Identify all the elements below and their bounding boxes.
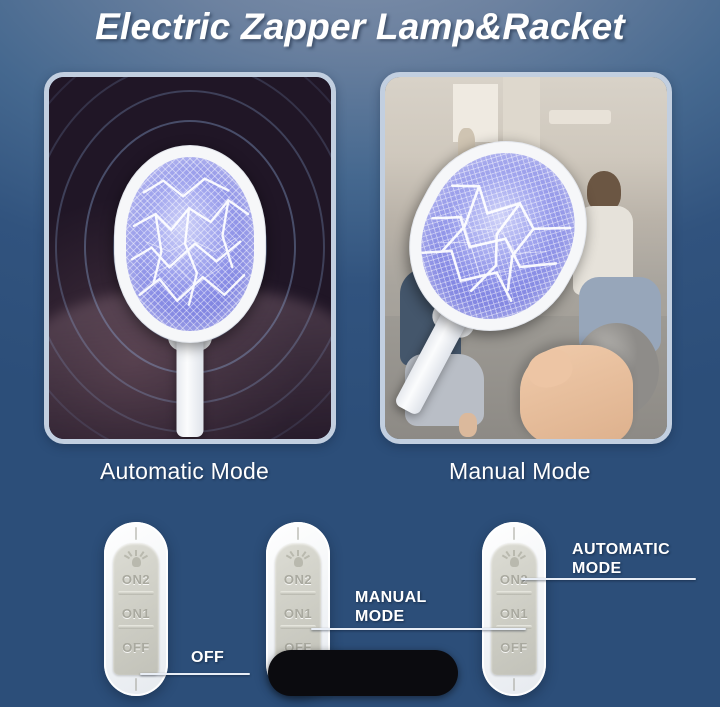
bulb-ray	[135, 550, 137, 556]
switch-automatic[interactable]: ON2 ON1 OFF	[482, 522, 546, 696]
zapper-racket-upright	[114, 145, 266, 343]
manual-mode-photo	[380, 72, 672, 444]
lamp-bulb-icon	[503, 550, 525, 567]
callout-leader-automatic	[521, 578, 696, 580]
switch-off[interactable]: ON2 ON1 OFF	[104, 522, 168, 696]
callout-manual: MANUAL MODE	[355, 588, 427, 626]
callout-off: OFF	[191, 648, 224, 667]
callout-leader-manual	[311, 628, 526, 630]
bulb-ray	[304, 555, 310, 559]
switch-seam	[297, 527, 299, 540]
switch-label-off: OFF	[491, 640, 537, 655]
bulb-ray	[513, 550, 515, 556]
callout-automatic: AUTOMATIC MODE	[572, 540, 670, 578]
manual-photo-inner	[385, 77, 667, 439]
bulb-glass	[510, 557, 519, 567]
caption-automatic-mode: Automatic Mode	[100, 458, 269, 485]
switch-seam	[513, 678, 515, 691]
bulb-glass	[132, 557, 141, 567]
switch-label-off: OFF	[113, 640, 159, 655]
switch-label-on2: ON2	[113, 572, 159, 587]
switch-ridge	[496, 591, 532, 595]
switch-ridge	[118, 625, 154, 629]
switch-seam	[513, 527, 515, 540]
bulb-glass	[294, 557, 303, 567]
bulb-ray	[520, 555, 526, 559]
automatic-photo-inner	[49, 77, 331, 439]
electric-arc-icon	[126, 157, 254, 330]
switch-ridge	[118, 591, 154, 595]
switch-label-on1: ON1	[275, 606, 321, 621]
caption-manual-mode: Manual Mode	[449, 458, 591, 485]
racket-handle	[177, 333, 204, 437]
switch-label-on1: ON1	[491, 606, 537, 621]
black-bar-overlay	[268, 650, 458, 696]
switch-ridge	[280, 591, 316, 595]
switch-label-on2: ON2	[275, 572, 321, 587]
page-title: Electric Zapper Lamp&Racket	[0, 6, 720, 48]
person-foot	[459, 413, 478, 436]
bulb-ray	[297, 550, 299, 556]
switch-seam	[135, 527, 137, 540]
callout-leader-off	[140, 673, 250, 675]
hand-holding-racket	[520, 345, 633, 439]
switch-seam	[135, 678, 137, 691]
switch-slider-plate[interactable]: ON2 ON1 OFF	[491, 543, 537, 675]
bulb-ray	[142, 555, 148, 559]
racket-mesh	[126, 157, 254, 331]
wall-shelf	[549, 110, 611, 124]
racket-head	[114, 145, 266, 343]
product-poster: Electric Zapper Lamp&Racket	[0, 0, 720, 707]
automatic-mode-photo	[44, 72, 336, 444]
switch-label-on1: ON1	[113, 606, 159, 621]
lamp-bulb-icon	[125, 550, 147, 567]
switch-slider-plate[interactable]: ON2 ON1 OFF	[113, 543, 159, 675]
lamp-bulb-icon	[287, 550, 309, 567]
